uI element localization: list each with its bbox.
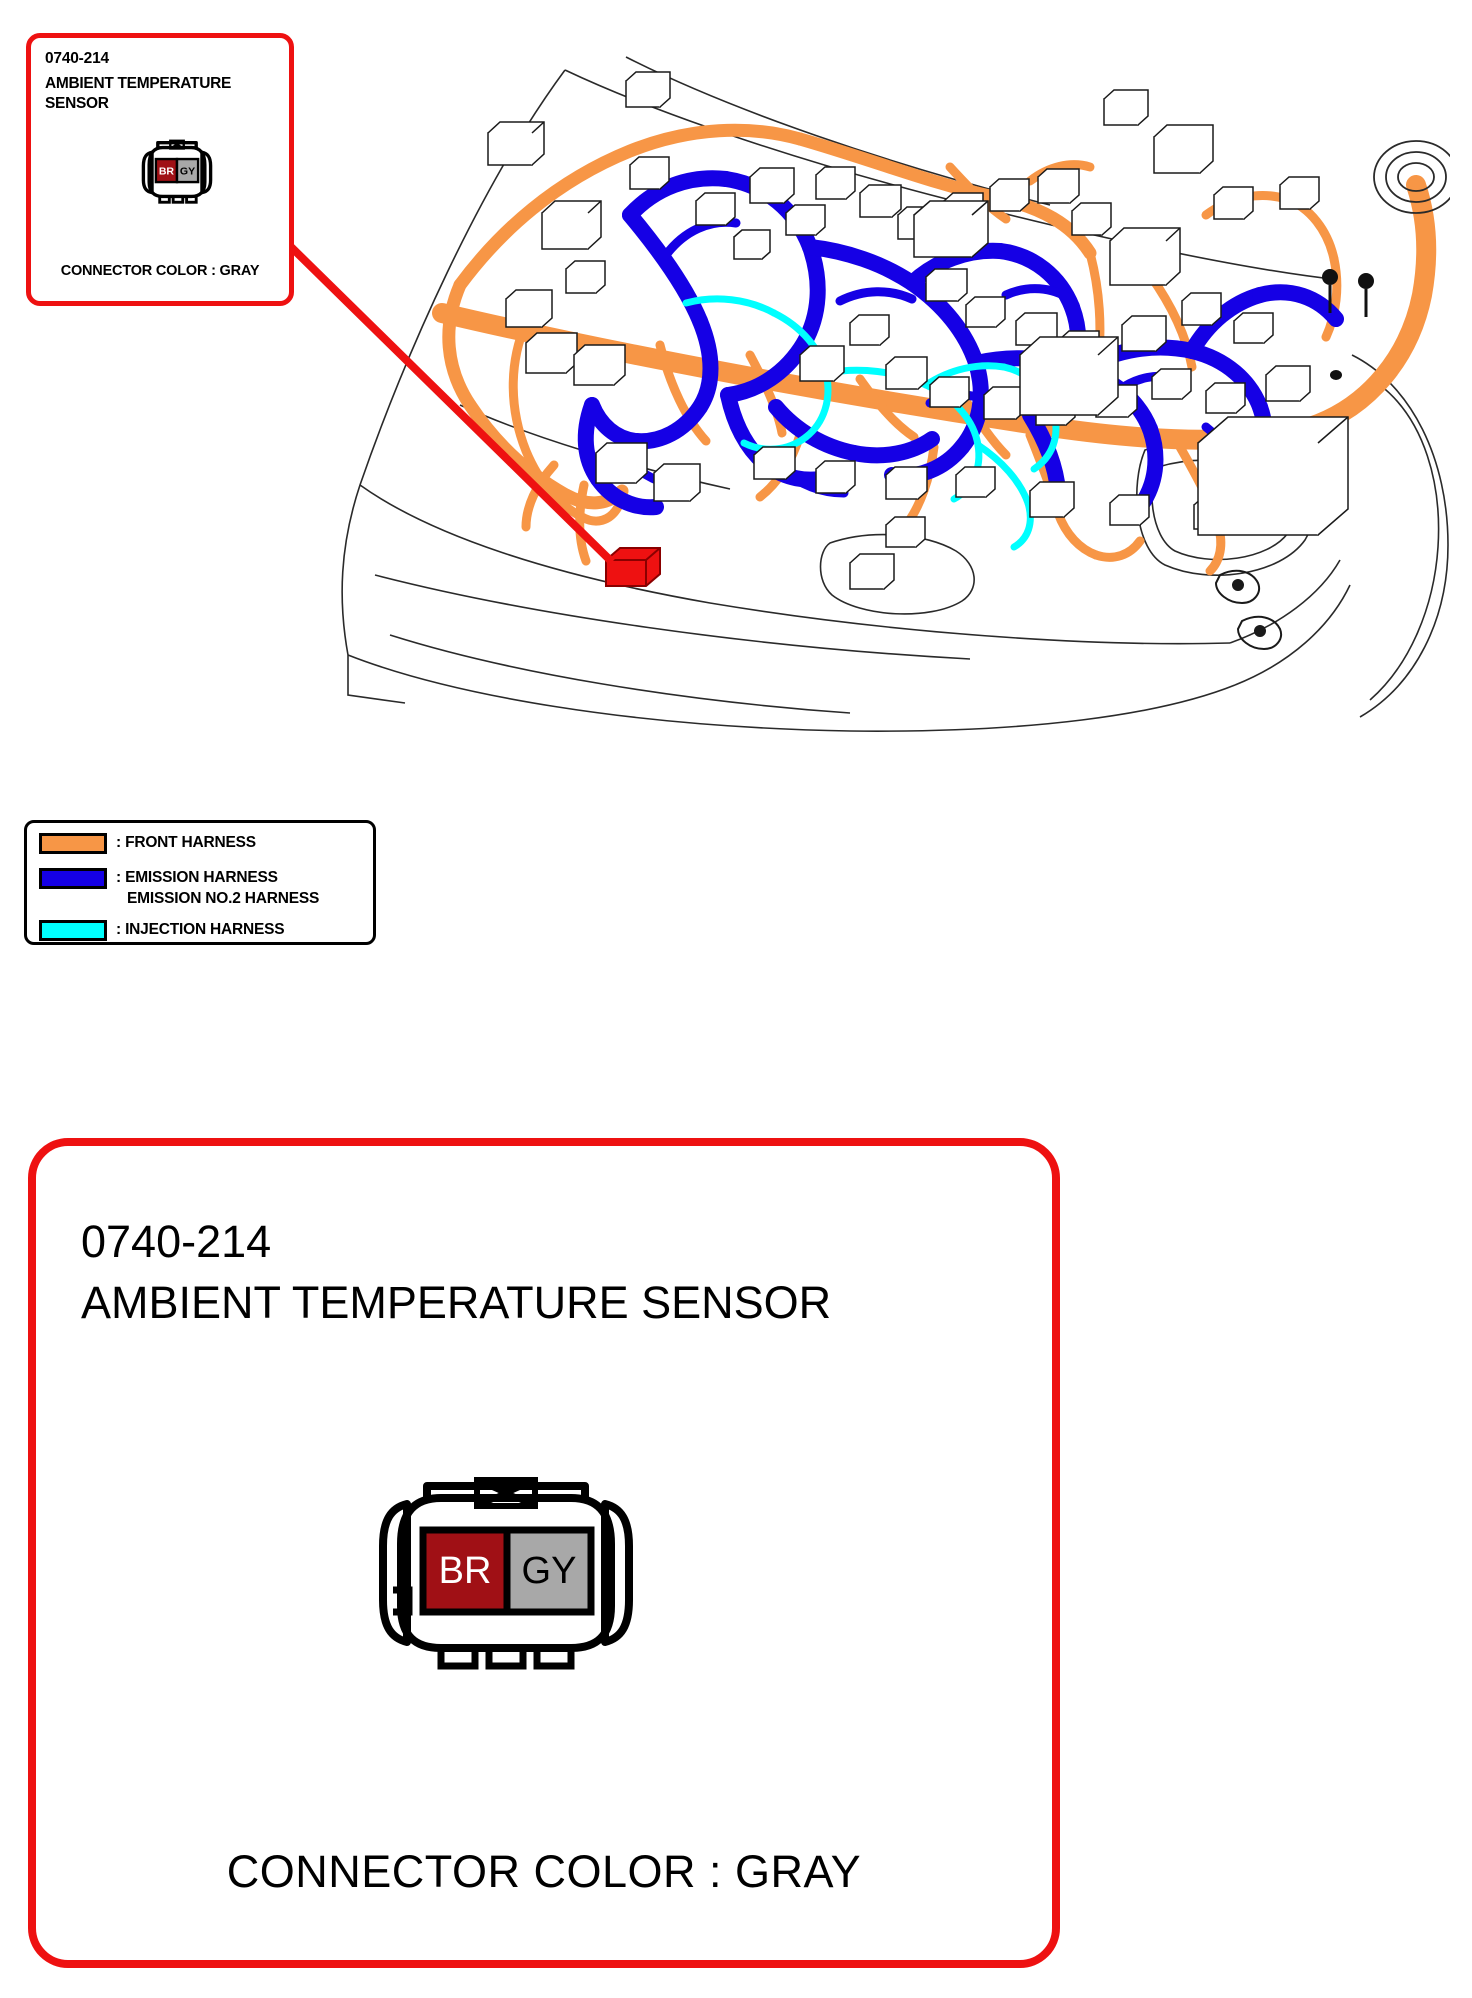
vehicle-harness-illustration xyxy=(330,55,1450,735)
terminal-label-gy-large: GY xyxy=(522,1550,577,1592)
legend-swatch-emission-harness xyxy=(39,868,107,889)
callout-large-connector-color: CONNECTOR COLOR : GRAY xyxy=(36,1846,1052,1898)
legend-label-front-harness: : FRONT HARNESS xyxy=(116,832,256,853)
legend-item-injection-harness: : INJECTION HARNESS xyxy=(39,919,284,941)
callout-box-large: 0740-214 AMBIENT TEMPERATURE SENSOR xyxy=(28,1138,1060,1968)
target-connector-highlight xyxy=(606,548,660,586)
harness-legend: : FRONT HARNESS : EMISSION HARNESS EMISS… xyxy=(24,820,376,945)
connector-pinout-small: BR GY xyxy=(127,136,227,208)
callout-large-code: 0740-214 xyxy=(81,1216,271,1268)
legend-item-emission-harness: : EMISSION HARNESS EMISSION NO.2 HARNESS xyxy=(39,867,319,909)
legend-item-front-harness: : FRONT HARNESS xyxy=(39,832,256,854)
connector-pinout-large: BR GY xyxy=(341,1466,671,1681)
legend-label-emission-harness: : EMISSION HARNESS xyxy=(116,867,319,888)
callout-small-code: 0740-214 xyxy=(45,50,109,68)
terminal-label-br-large: BR xyxy=(439,1550,492,1592)
callout-small-connector-color: CONNECTOR COLOR : GRAY xyxy=(31,263,289,279)
callout-box-small: 0740-214 AMBIENT TEMPERATURE SENSOR BR G xyxy=(26,33,294,306)
legend-label-injection-harness: : INJECTION HARNESS xyxy=(116,919,284,940)
ground-eyelet-icons xyxy=(1216,571,1281,649)
terminal-label-br-small: BR xyxy=(159,165,175,177)
callout-small-component-name: AMBIENT TEMPERATURE SENSOR xyxy=(45,74,285,114)
legend-swatch-front-harness xyxy=(39,833,107,854)
terminal-label-gy-small: GY xyxy=(180,165,195,177)
legend-swatch-injection-harness xyxy=(39,920,107,941)
legend-label-emission-no2-harness: EMISSION NO.2 HARNESS xyxy=(116,888,319,909)
callout-large-component-name: AMBIENT TEMPERATURE SENSOR xyxy=(81,1274,961,1332)
